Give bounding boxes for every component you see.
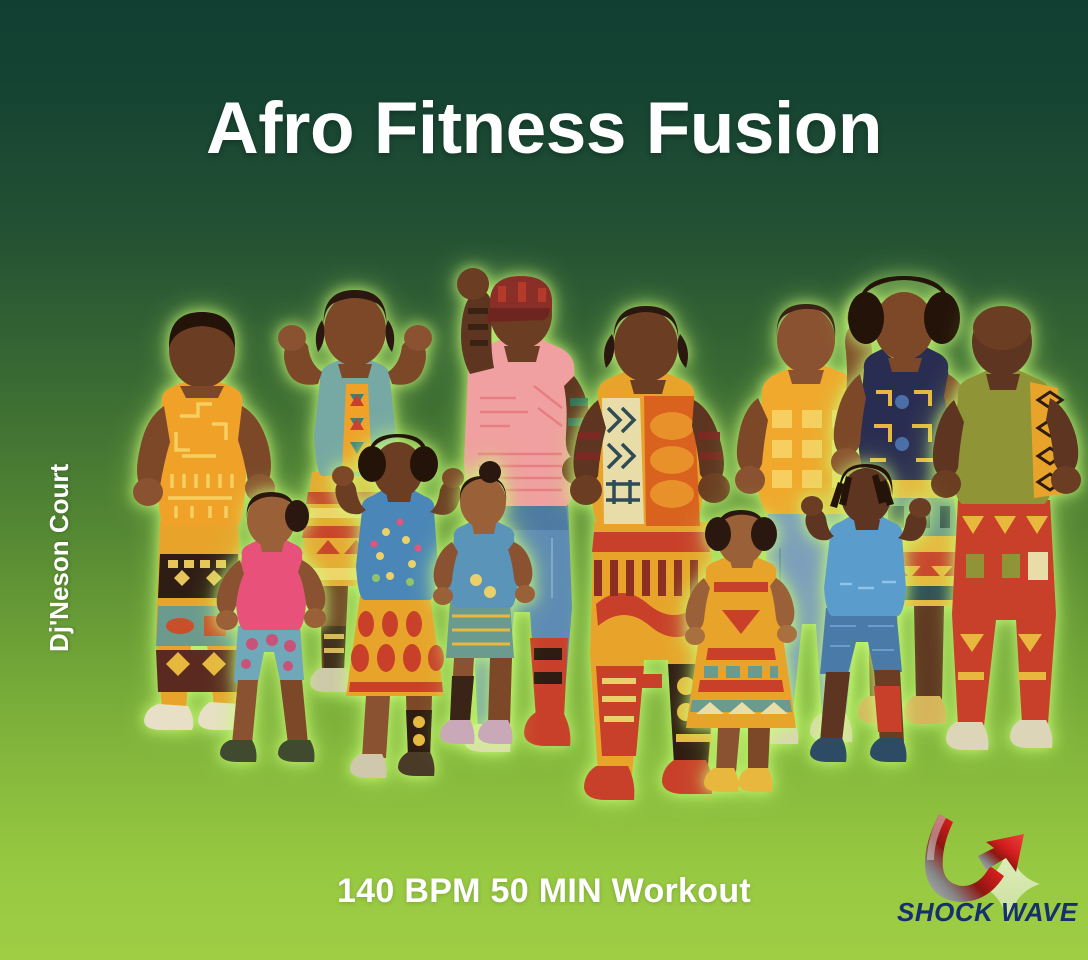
artist-credit-vertical: Dj'Neson Court bbox=[44, 392, 75, 652]
figure-child-small-blue bbox=[414, 480, 549, 780]
figure-child-boy-blue-outfit bbox=[786, 476, 941, 796]
page-title: Afro Fitness Fusion bbox=[0, 92, 1088, 165]
figure-older-man-olive-top bbox=[918, 304, 1088, 754]
poster-canvas: Afro Fitness Fusion Dj'Neson Court bbox=[0, 0, 1088, 960]
shockwave-mix-logo[interactable]: SHOCK WAVE MIX bbox=[890, 806, 1080, 946]
fitness-group-illustration bbox=[118, 268, 970, 788]
logo-wordmark: SHOCK WAVE MIX bbox=[897, 897, 1080, 927]
